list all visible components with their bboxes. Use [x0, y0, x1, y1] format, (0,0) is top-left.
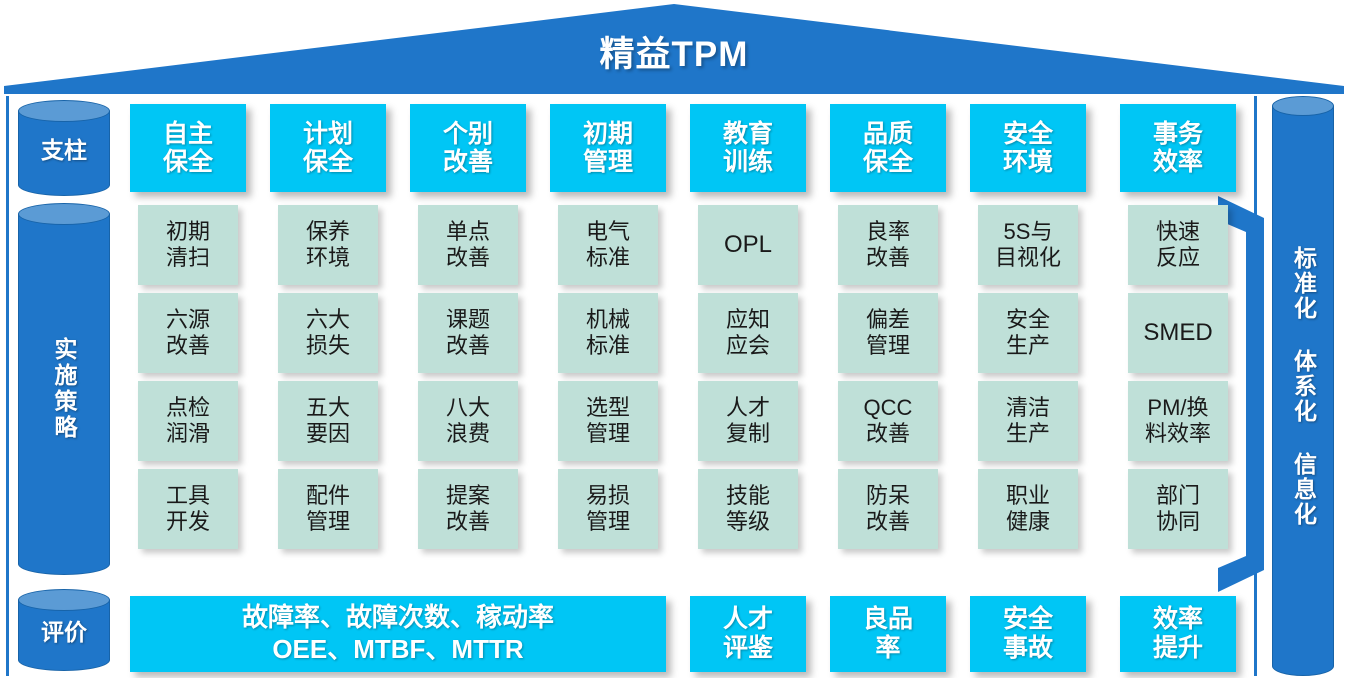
house-wall-left [6, 96, 9, 676]
strategy-cell-c3-r1[interactable]: 单点改善 [418, 205, 518, 285]
pillar-header-5[interactable]: 教育训练 [690, 104, 806, 192]
pillar-header-2[interactable]: 计划保全 [270, 104, 386, 192]
strategy-cell-c3-r4[interactable]: 提案改善 [418, 469, 518, 549]
strategy-cell-c8-r1[interactable]: 快速反应 [1128, 205, 1228, 285]
strategy-cell-c4-r2[interactable]: 机械标准 [558, 293, 658, 373]
strategy-cell-c6-r2[interactable]: 偏差管理 [838, 293, 938, 373]
strategy-cell-c6-r3[interactable]: QCC改善 [838, 381, 938, 461]
strategy-cell-c1-r3[interactable]: 点检润滑 [138, 381, 238, 461]
strategy-cell-c1-r2[interactable]: 六源改善 [138, 293, 238, 373]
cylinder-strategy-label: 实施策略 [18, 203, 110, 575]
evaluation-box-quality[interactable]: 良品率 [830, 596, 946, 672]
pillar-header-8[interactable]: 事务效率 [1120, 104, 1236, 192]
pillar-header-6[interactable]: 品质保全 [830, 104, 946, 192]
pillar-header-7[interactable]: 安全环境 [970, 104, 1086, 192]
cylinder-pillar: 支柱 [18, 100, 110, 196]
strategy-cell-c6-r4[interactable]: 防呆改善 [838, 469, 938, 549]
strategy-cell-c2-r1[interactable]: 保养环境 [278, 205, 378, 285]
evaluation-box-effic[interactable]: 效率提升 [1120, 596, 1236, 672]
pillar-header-1[interactable]: 自主保全 [130, 104, 246, 192]
strategy-cell-c5-r3[interactable]: 人才复制 [698, 381, 798, 461]
strategy-cell-c7-r2[interactable]: 安全生产 [978, 293, 1078, 373]
strategy-cell-c2-r2[interactable]: 六大损失 [278, 293, 378, 373]
cylinder-evaluation-label: 评价 [18, 589, 110, 671]
strategy-cell-c8-r2[interactable]: SMED [1128, 293, 1228, 373]
strategy-cell-c5-r1[interactable]: OPL [698, 205, 798, 285]
evaluation-box-safety[interactable]: 安全事故 [970, 596, 1086, 672]
cylinder-pillar-label: 支柱 [18, 100, 110, 196]
strategy-cell-c8-r3[interactable]: PM/换料效率 [1128, 381, 1228, 461]
cylinder-strategy: 实施策略 [18, 203, 110, 575]
strategy-cell-c4-r4[interactable]: 易损管理 [558, 469, 658, 549]
roof: 精益TPM [0, 0, 1348, 96]
strategy-cell-c3-r3[interactable]: 八大浪费 [418, 381, 518, 461]
pillar-header-4[interactable]: 初期管理 [550, 104, 666, 192]
strategy-cell-c2-r4[interactable]: 配件管理 [278, 469, 378, 549]
strategy-cell-c7-r3[interactable]: 清洁生产 [978, 381, 1078, 461]
strategy-cell-c5-r4[interactable]: 技能等级 [698, 469, 798, 549]
tpm-house-diagram: 精益TPM 支柱 实施策略 评价 标准化 体系化 信息化 自主保全计划保全个别改… [0, 0, 1348, 678]
strategy-cell-c3-r2[interactable]: 课题改善 [418, 293, 518, 373]
strategy-cell-c4-r1[interactable]: 电气标准 [558, 205, 658, 285]
cylinder-evaluation: 评价 [18, 589, 110, 671]
strategy-cell-c6-r1[interactable]: 良率改善 [838, 205, 938, 285]
evaluation-box-metrics[interactable]: 故障率、故障次数、稼动率OEE、MTBF、MTTR [130, 596, 666, 672]
evaluation-box-talent[interactable]: 人才评鉴 [690, 596, 806, 672]
strategy-cell-c7-r4[interactable]: 职业健康 [978, 469, 1078, 549]
strategy-cell-c1-r1[interactable]: 初期清扫 [138, 205, 238, 285]
strategy-cell-c1-r4[interactable]: 工具开发 [138, 469, 238, 549]
strategy-cell-c8-r4[interactable]: 部门协同 [1128, 469, 1228, 549]
strategy-cell-c4-r3[interactable]: 选型管理 [558, 381, 658, 461]
strategy-cell-c2-r3[interactable]: 五大要因 [278, 381, 378, 461]
page-title: 精益TPM [0, 26, 1348, 77]
strategy-cell-c5-r2[interactable]: 应知应会 [698, 293, 798, 373]
cylinder-standardization: 标准化 体系化 信息化 [1272, 96, 1334, 676]
cylinder-standardization-label: 标准化 体系化 信息化 [1272, 96, 1334, 676]
pillar-header-3[interactable]: 个别改善 [410, 104, 526, 192]
strategy-cell-c7-r1[interactable]: 5S与目视化 [978, 205, 1078, 285]
